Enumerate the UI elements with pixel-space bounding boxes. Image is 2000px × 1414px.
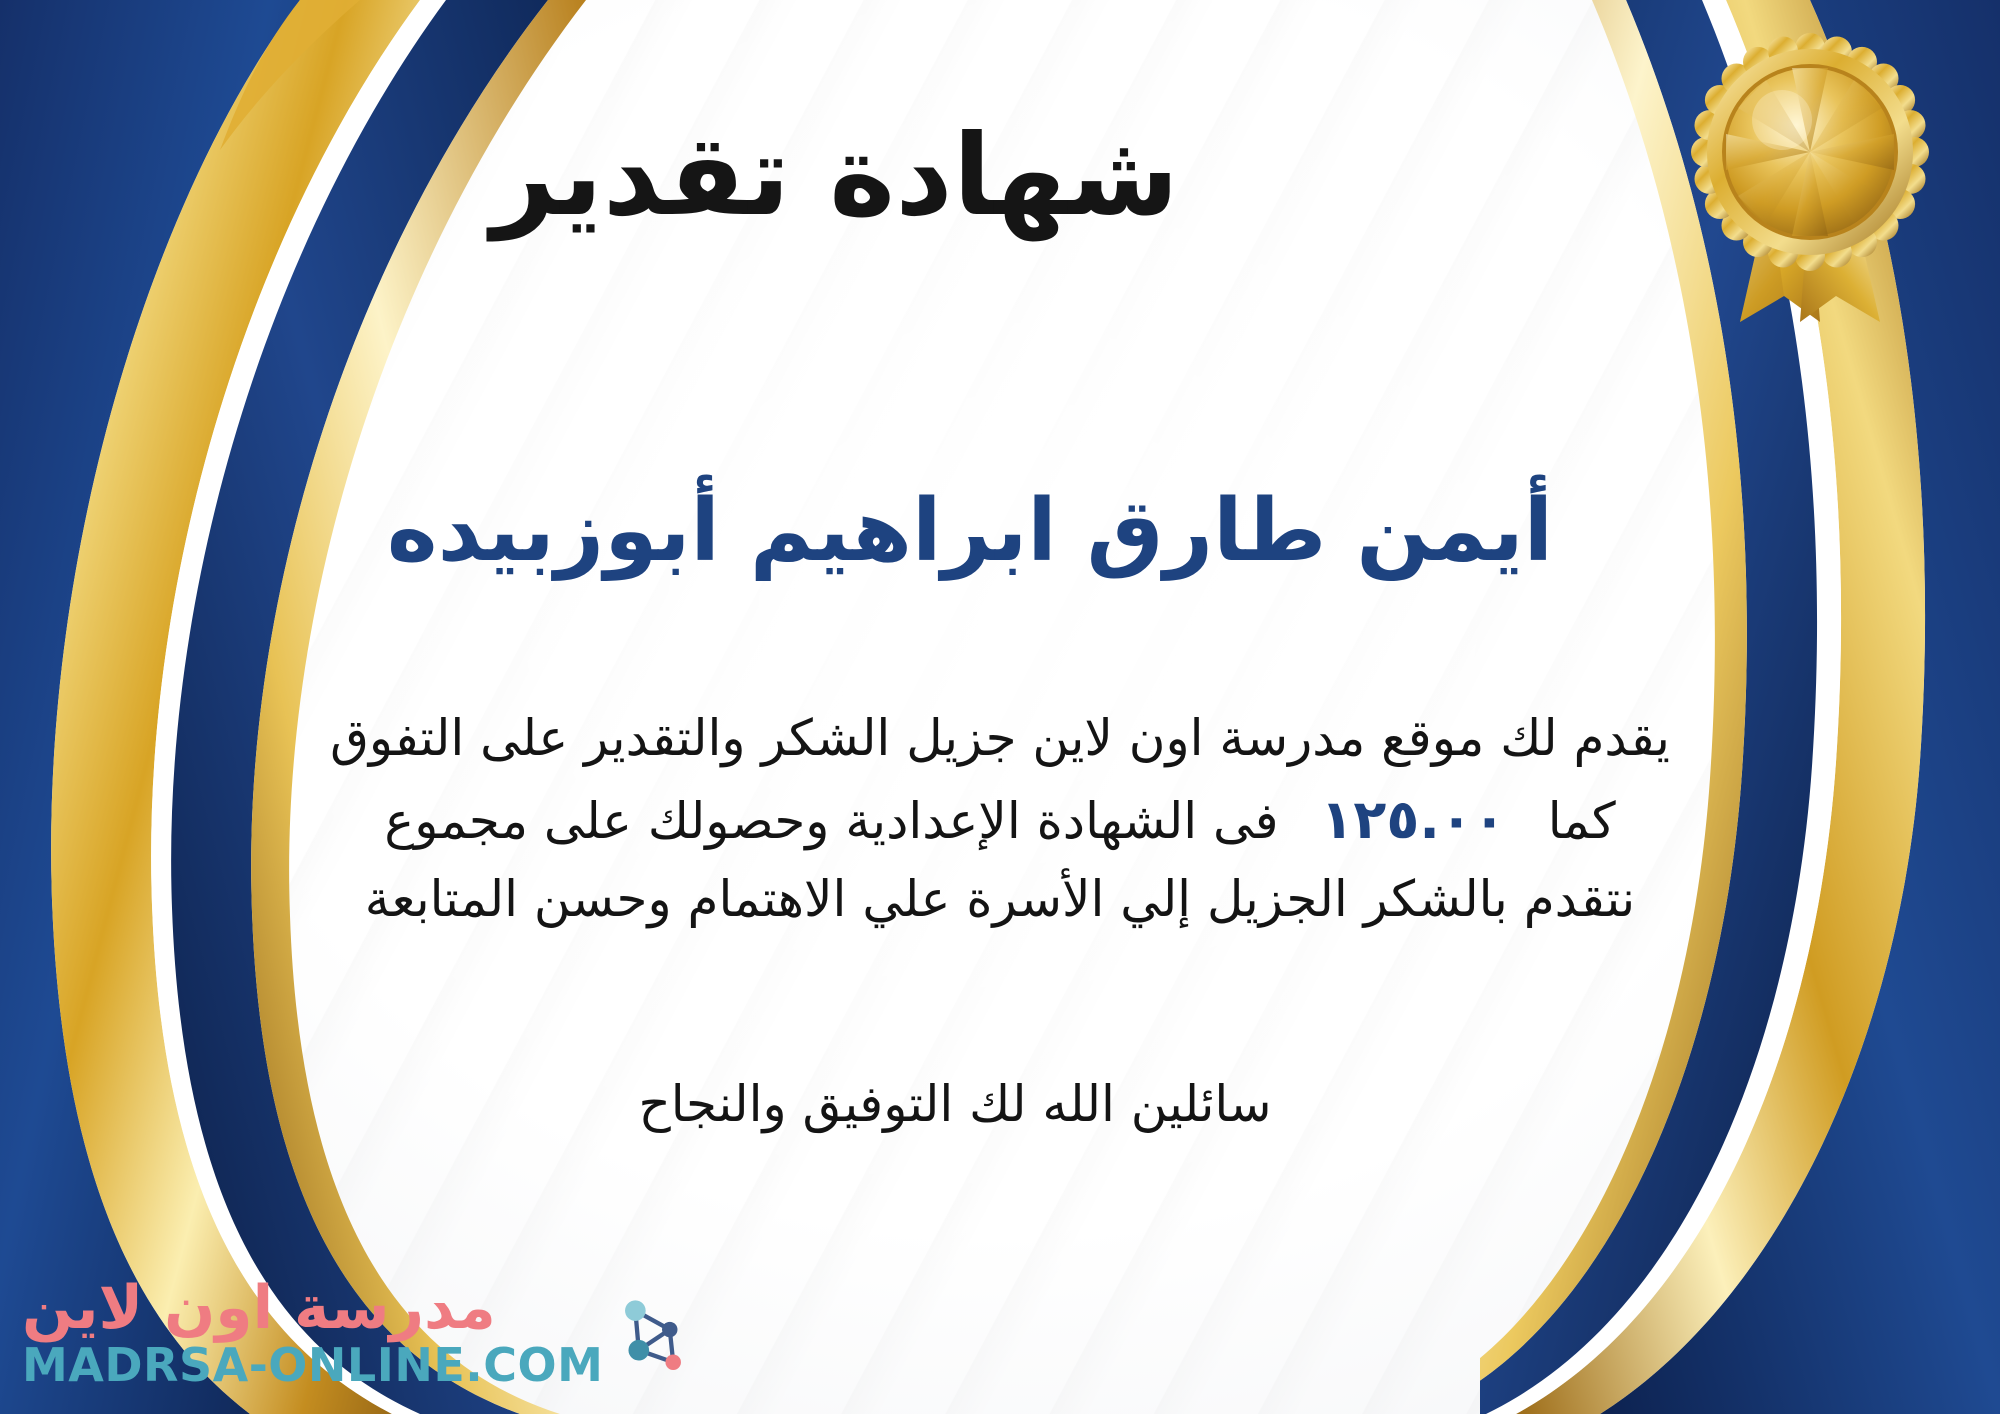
brand-website-url: MADRSA-ONLINE.COM (22, 1342, 603, 1388)
body-line-2-prefix: فى الشهادة الإعدادية وحصولك على مجموع (384, 792, 1278, 850)
network-nodes-icon (613, 1290, 699, 1376)
brand-logo-text: مدرسة اون لاين MADRSA-ONLINE.COM (22, 1278, 603, 1388)
brand-logo: مدرسة اون لاين MADRSA-ONLINE.COM (22, 1278, 699, 1388)
certificate-canvas: شهادة تقدير أيمن طارق ابراهيم أبوزبيده ي… (0, 0, 2000, 1414)
score-value: ١٢٥.٠٠ (1294, 788, 1531, 851)
body-line-2-suffix: كما (1548, 792, 1616, 850)
gold-medal-rosette-icon (1680, 30, 1940, 330)
closing-line: سائلين الله لك التوفيق والنجاح (0, 1075, 2000, 1133)
certificate-body: يقدم لك موقع مدرسة اون لاين جزيل الشكر و… (180, 700, 1820, 939)
body-line-1: يقدم لك موقع مدرسة اون لاين جزيل الشكر و… (180, 700, 1820, 778)
recipient-name: أيمن طارق ابراهيم أبوزبيده (0, 480, 2000, 583)
body-line-2: كما ١٢٥.٠٠ فى الشهادة الإعدادية وحصولك ع… (180, 778, 1820, 862)
brand-name-arabic: مدرسة اون لاين (22, 1278, 496, 1338)
body-line-3: نتقدم بالشكر الجزيل إلي الأسرة علي الاهت… (180, 861, 1820, 939)
